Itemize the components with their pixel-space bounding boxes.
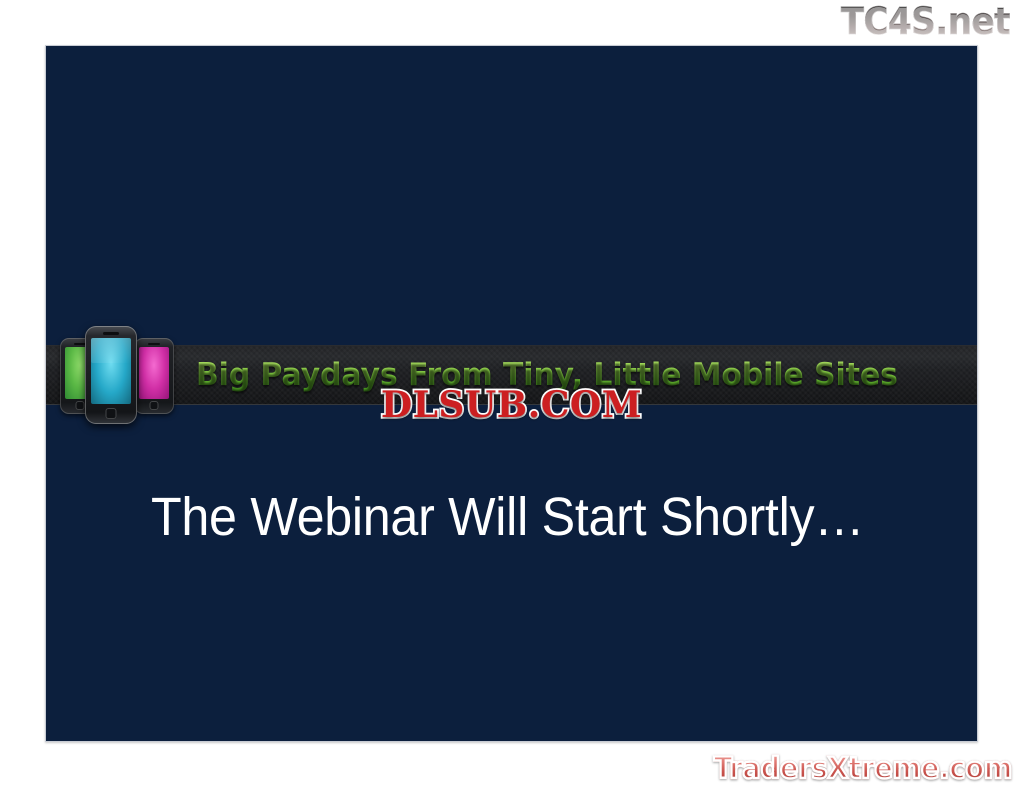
watermark-banner-overlay: DLSUB.COM (381, 386, 642, 424)
presentation-slide: Big Paydays From Tiny, Little Mobile Sit… (45, 45, 978, 742)
phone-home-button-icon (76, 401, 85, 410)
phone-speaker-icon (148, 343, 160, 345)
mobile-phones-graphic (60, 324, 182, 426)
phone-center-icon (85, 326, 137, 424)
phone-home-button-icon (150, 401, 159, 410)
phone-home-button-icon (106, 408, 117, 419)
watermark-top-right: TC4S.net (841, 2, 1010, 42)
phone-speaker-icon (103, 332, 119, 335)
slide-headline: The Webinar Will Start Shortly… (151, 486, 858, 548)
phone-screen-cyan (91, 338, 131, 404)
phone-right-icon (134, 338, 174, 414)
phone-screen-magenta (139, 347, 169, 399)
watermark-bottom-right: TradersXtreme.com (714, 751, 1012, 785)
